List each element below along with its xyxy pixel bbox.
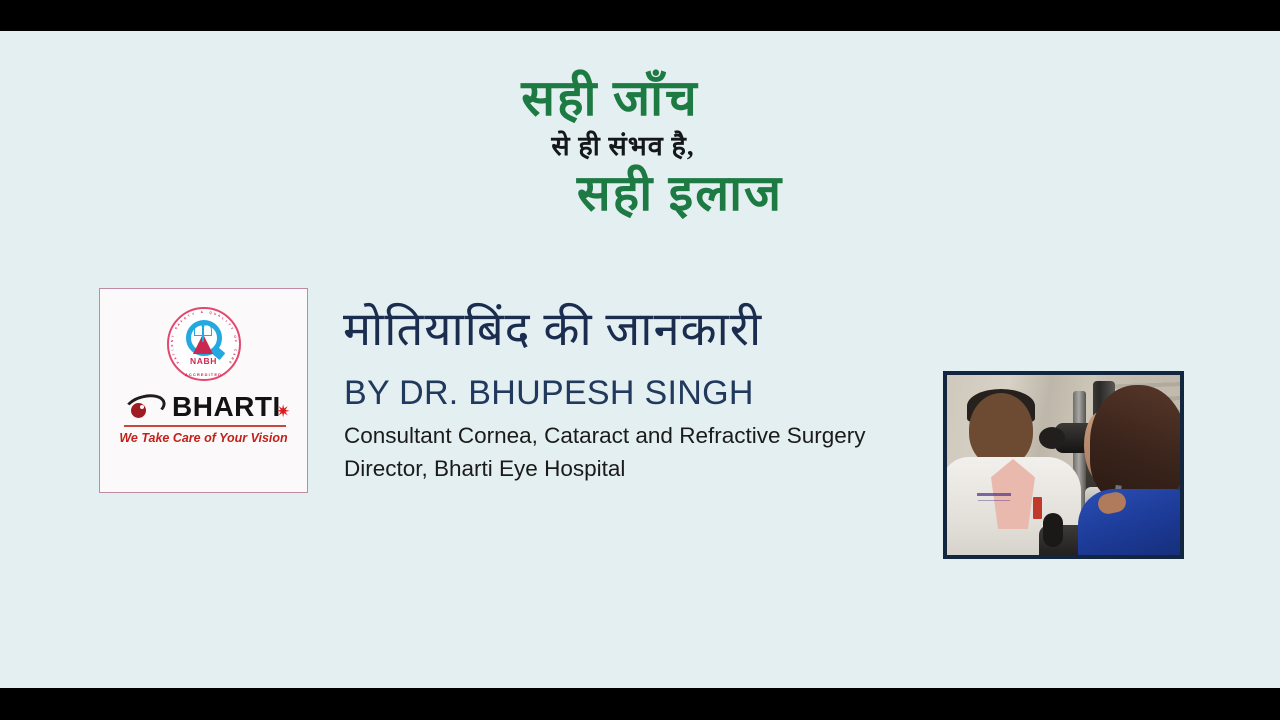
photo-doctor-head <box>969 393 1033 467</box>
presenter-byline: BY DR. BHUPESH SINGH <box>344 374 754 413</box>
brand-divider <box>124 425 286 427</box>
eye-iris-shape <box>131 403 146 418</box>
photo-slitlamp-knob <box>1043 513 1063 547</box>
seal-caduceus-icon <box>202 323 204 342</box>
letterbox-bottom <box>0 688 1280 720</box>
letterbox-top <box>0 0 1280 31</box>
brand-row: BHARTI ✷ <box>100 391 307 425</box>
presenter-role-line-1: Consultant Cornea, Cataract and Refracti… <box>344 423 866 449</box>
brand-tagline: We Take Care of Your Vision <box>100 431 307 445</box>
eye-icon <box>124 395 166 421</box>
nabh-accreditation-seal-icon: PATIENT SAFETY & QUALITY OF CARE NABH AC… <box>167 307 241 381</box>
tagline-line-2: से ही संभव है, <box>0 133 1280 160</box>
brand-name: BHARTI <box>172 391 281 423</box>
tagline-line-3: सही इलाज <box>80 168 1280 218</box>
photo-patient-hair <box>1090 385 1184 503</box>
hospital-logo-card: PATIENT SAFETY & QUALITY OF CARE NABH AC… <box>99 288 308 493</box>
tagline-line-1: सही जाँच <box>0 73 1280 123</box>
presenter-role-line-2: Director, Bharti Eye Hospital <box>344 456 625 482</box>
starburst-icon: ✷ <box>276 405 289 418</box>
photo-patient-top <box>1078 489 1184 559</box>
photo-coat-badge <box>1033 497 1042 519</box>
seal-sub-label: ACCREDITED <box>167 372 241 377</box>
hindi-tagline-block: सही जाँच से ही संभव है, सही इलाज <box>0 73 1280 218</box>
photo-coat-embroidery <box>977 493 1011 496</box>
photo-slitlamp-ocular <box>1039 427 1065 449</box>
seal-label: NABH <box>167 356 241 366</box>
video-frame: सही जाँच से ही संभव है, सही इलाज PATIENT… <box>0 0 1280 720</box>
page-title: मोतियाबिंद की जानकारी <box>343 295 762 359</box>
presentation-slide: सही जाँच से ही संभव है, सही इलाज PATIENT… <box>0 31 1280 688</box>
doctor-examination-photo <box>943 371 1184 559</box>
photo-patient <box>1084 385 1184 559</box>
